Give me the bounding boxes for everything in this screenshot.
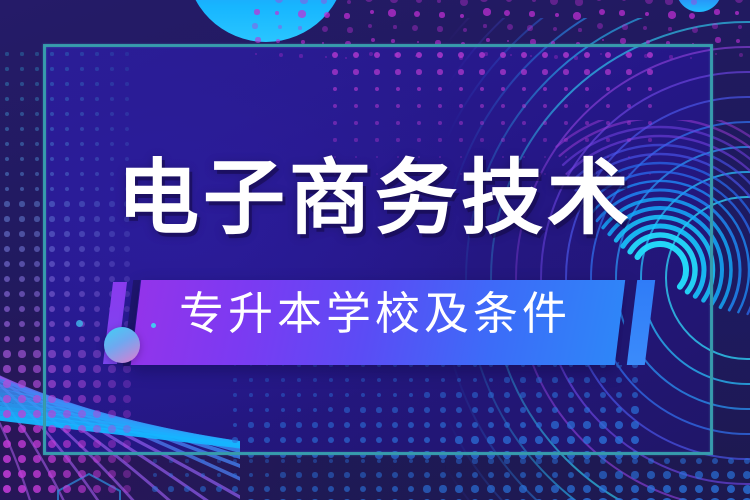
page-title: 电子商务技术	[0, 158, 750, 240]
page-subtitle: 专升本学校及条件	[0, 291, 750, 336]
banner-canvas: 电子商务技术 专升本学校及条件	[0, 0, 750, 500]
background-inner-panel	[43, 44, 713, 455]
